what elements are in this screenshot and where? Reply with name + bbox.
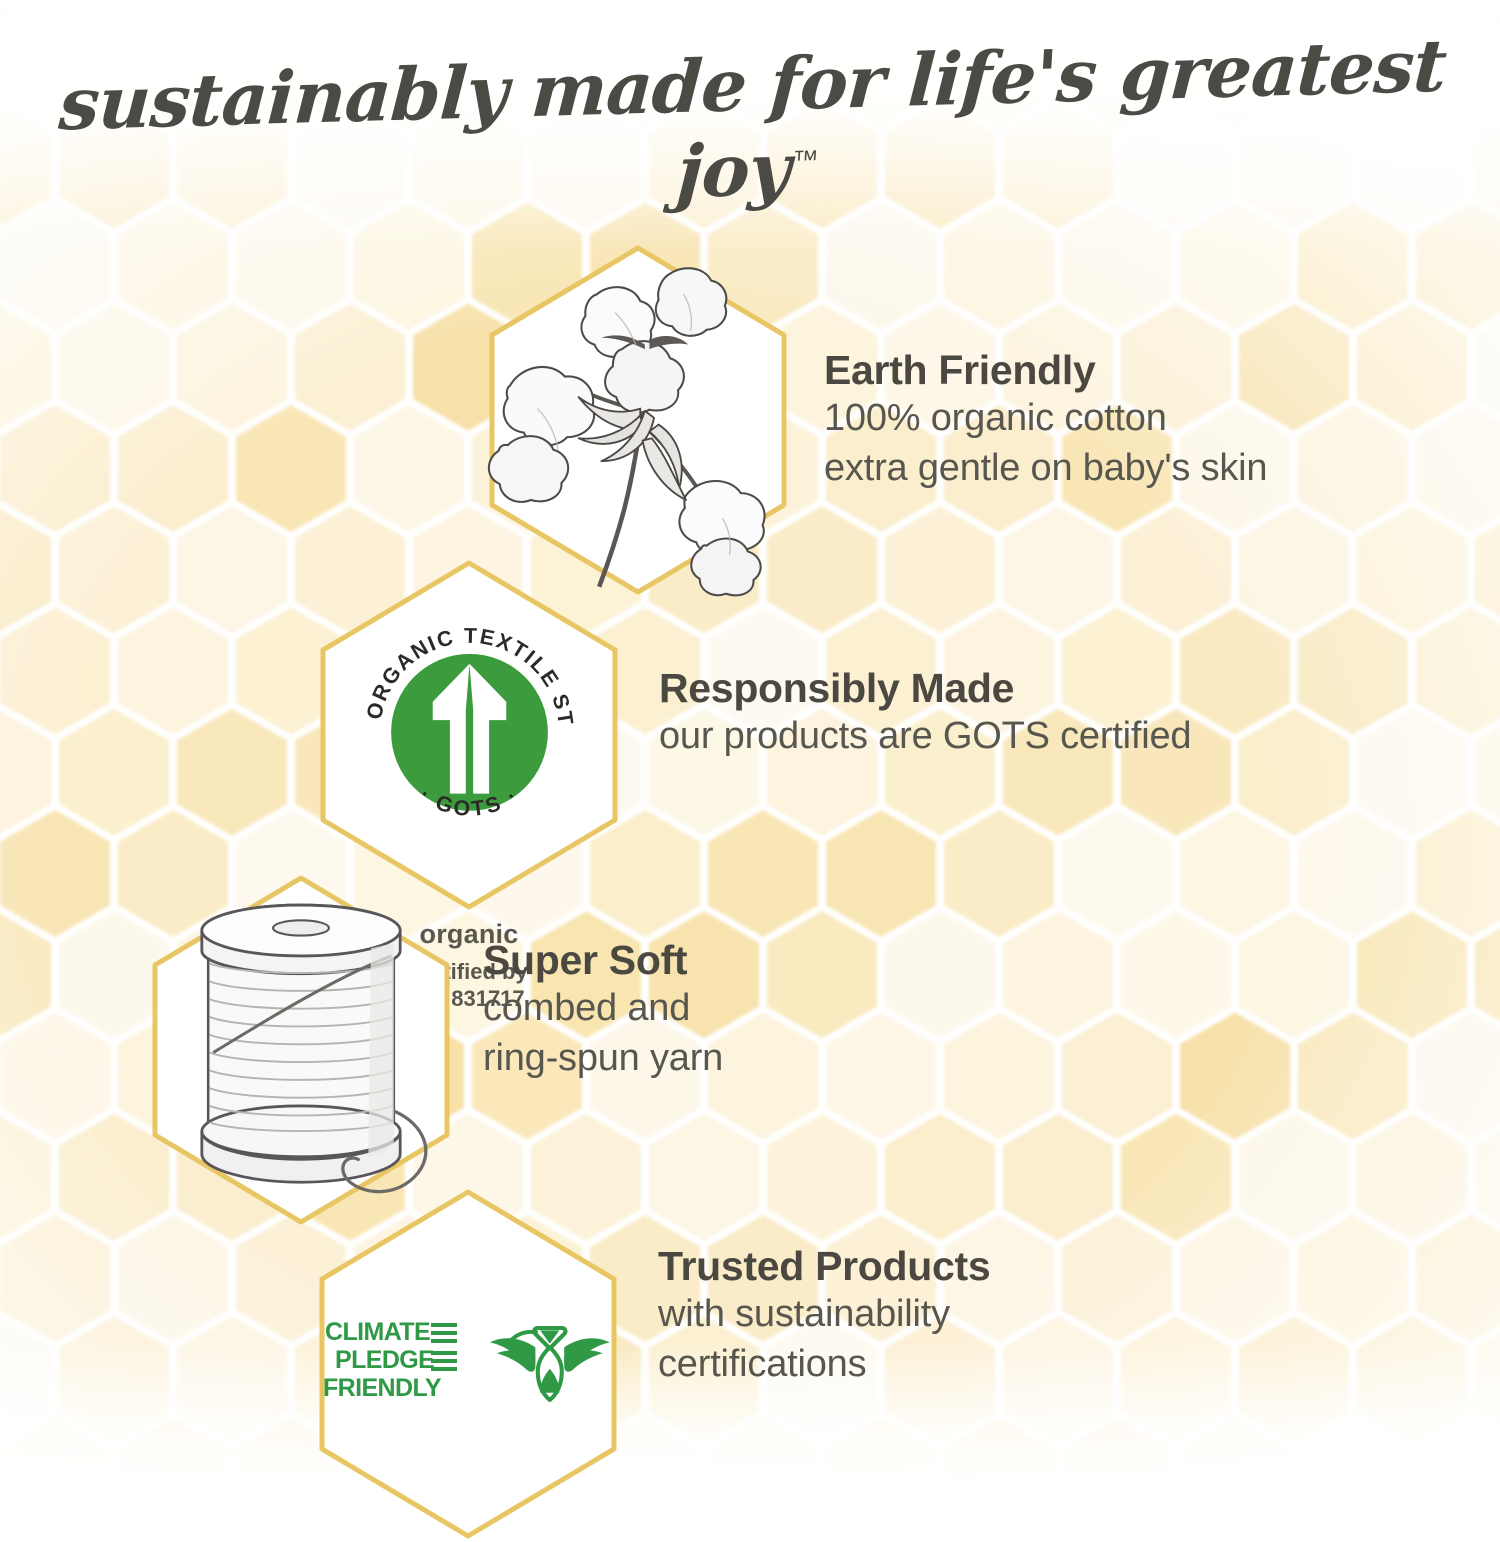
feature-line: extra gentle on baby's skin: [824, 444, 1267, 493]
gots-organic-icon: GLOBAL ORGANIC TEXTILE STANDARD · GOTS ·: [347, 557, 592, 908]
feature-text-responsibly-made: Responsibly Made our products are GOTS c…: [659, 664, 1191, 762]
feature-line: combed and: [483, 984, 723, 1033]
climate-pledge-friendly-wordmark-icon: CLIMATE PLEDGE FRIENDLY: [321, 1316, 471, 1412]
feature-title: Trusted Products: [658, 1242, 990, 1290]
trademark-symbol: ™: [791, 144, 819, 176]
feature-line: certifications: [658, 1340, 990, 1389]
page-headline: sustainably made for life's greatest joy…: [0, 42, 1500, 212]
headline-text: sustainably made for life's greatest joy: [57, 22, 1449, 214]
feature-text-super-soft: Super Soft combed and ring-spun yarn: [483, 936, 723, 1083]
feature-hexagon-card-super-soft: [141, 872, 461, 1228]
climate-pledge-friendly-logo: CLIMATE PLEDGE FRIENDLY: [321, 1316, 615, 1412]
thread-spool-icon: [141, 872, 461, 1228]
feature-title: Earth Friendly: [824, 346, 1267, 394]
feature-line: ring-spun yarn: [483, 1034, 723, 1083]
gots-seal: GLOBAL ORGANIC TEXTILE STANDARD · GOTS ·…: [347, 557, 592, 908]
feature-hexagon-card-earth-friendly: [478, 242, 798, 598]
cpf-line-3: FRIENDLY: [323, 1374, 442, 1402]
feature-line: our products are GOTS certified: [659, 712, 1191, 761]
feature-line: 100% organic cotton: [824, 394, 1267, 443]
feature-title: Super Soft: [483, 936, 723, 984]
feature-line: with sustainability: [658, 1290, 990, 1339]
feature-hexagon-card-responsibly-made: GLOBAL ORGANIC TEXTILE STANDARD · GOTS ·…: [309, 557, 629, 913]
feature-text-trusted-products: Trusted Products with sustainability cer…: [658, 1242, 990, 1389]
cpf-line-2: PLEDGE: [335, 1346, 434, 1374]
cotton-boll-icon: [478, 242, 798, 598]
winged-hourglass-icon: [485, 1316, 615, 1412]
feature-hexagon-card-trusted-products: CLIMATE PLEDGE FRIENDLY: [308, 1186, 628, 1542]
headline-script-text: sustainably made for life's greatest joy…: [0, 21, 1500, 233]
feature-text-earth-friendly: Earth Friendly 100% organic cotton extra…: [824, 346, 1267, 493]
cpf-line-1: CLIMATE: [325, 1318, 430, 1346]
feature-title: Responsibly Made: [659, 664, 1191, 712]
